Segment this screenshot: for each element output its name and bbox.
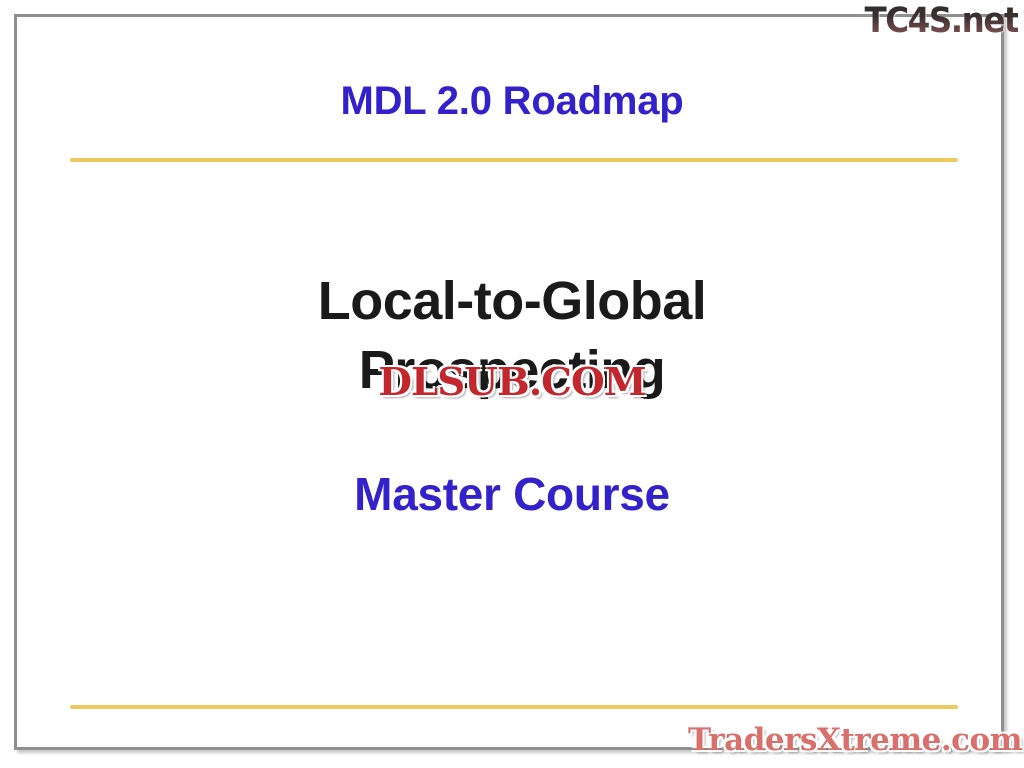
- headline: Local-to-Global Prospecting: [17, 267, 1007, 405]
- divider-bottom: [70, 705, 958, 709]
- slide-frame: MDL 2.0 Roadmap Local-to-Global Prospect…: [14, 14, 1004, 750]
- headline-line-1: Local-to-Global: [17, 267, 1007, 336]
- subheadline: Master Course: [17, 467, 1007, 521]
- divider-top: [70, 158, 958, 162]
- headline-line-2: Prospecting: [17, 336, 1007, 405]
- slide-title: MDL 2.0 Roadmap: [17, 79, 1007, 123]
- slide-canvas: MDL 2.0 Roadmap Local-to-Global Prospect…: [0, 0, 1024, 768]
- slide-body: Local-to-Global Prospecting Master Cours…: [17, 267, 1007, 521]
